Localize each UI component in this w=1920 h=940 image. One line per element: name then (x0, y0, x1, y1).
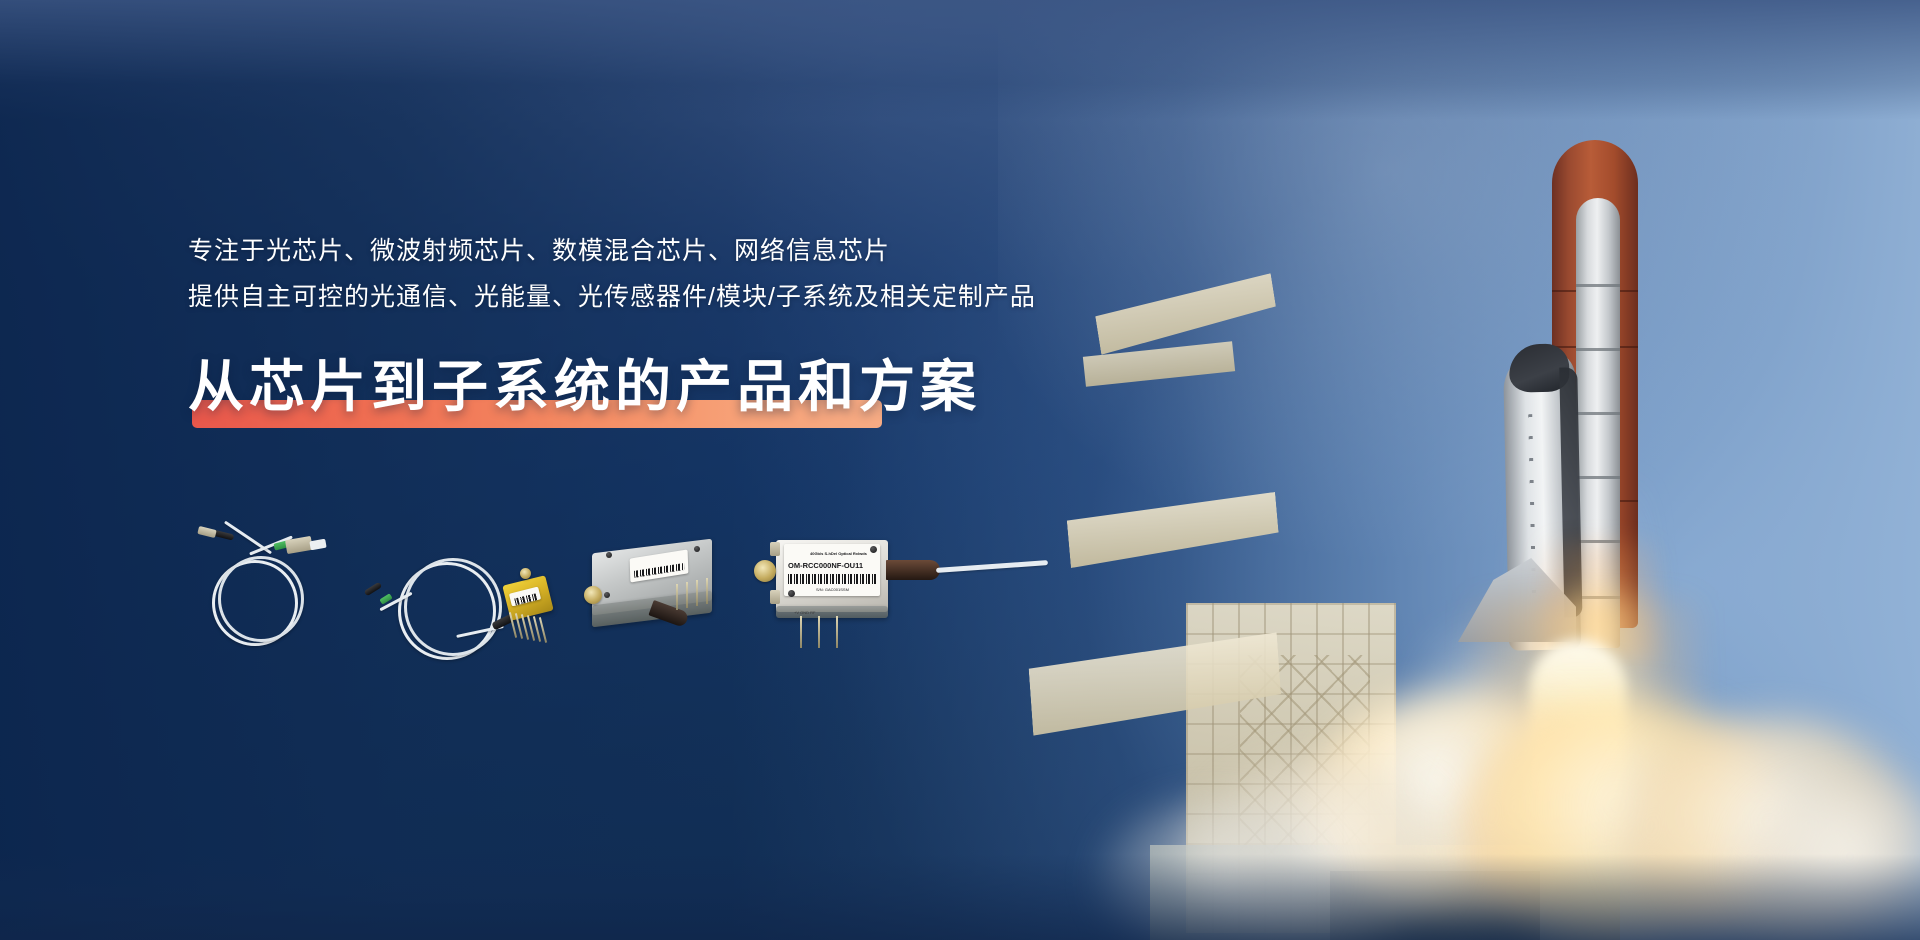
connector-ferrule (197, 526, 216, 538)
product-rf-optical-module-grey (582, 540, 742, 650)
product-showcase-strip: 40Gb/s S-hDel Optical Rxlwds OM-RCC000NF… (190, 528, 1190, 678)
module-label: 40Gb/s S-hDel Optical Rxlwds OM-RCC000NF… (784, 544, 880, 596)
banner-headline-wrap: 从芯片到子系统的产品和方案 (188, 348, 1188, 444)
banner-subtitle-line-2: 提供自主可控的光通信、光能量、光传感器件/模块/子系统及相关定制产品 (188, 274, 1188, 320)
output-fiber (936, 560, 1048, 573)
connector-tip (309, 539, 326, 551)
pin-marking-text: +V GND RF (794, 610, 815, 615)
sky-top-vignette (0, 0, 1920, 120)
label-serial-text: S/N: GAC001SSM (816, 587, 849, 592)
sky-left-vignette (0, 0, 883, 940)
connector-boot (364, 582, 382, 597)
product-butterfly-laser-module-gold (360, 534, 550, 664)
fiber-strain-relief (886, 560, 940, 580)
ground-shadow (0, 854, 1920, 940)
connector-body (285, 536, 313, 554)
module-housing-side (776, 606, 888, 618)
sma-connector-icon (754, 560, 776, 582)
sma-connector-icon (520, 568, 531, 579)
banner-headline: 从芯片到子系统的产品和方案 (188, 348, 981, 426)
label-model-text: OM-RCC000NF-OU11 (788, 561, 863, 570)
sma-connector-icon (584, 586, 602, 604)
product-coaxial-optical-receiver-module: 40Gb/s S-hDel Optical Rxlwds OM-RCC000NF… (750, 532, 1050, 662)
hero-banner: 专注于光芯片、微波射频芯片、数模混合芯片、网络信息芯片 提供自主可控的光通信、光… (0, 0, 1920, 940)
banner-copy: 专注于光芯片、微波射频芯片、数模混合芯片、网络信息芯片 提供自主可控的光通信、光… (188, 228, 1188, 444)
product-fiber-pigtail-coil-lc (190, 528, 350, 648)
label-spec-text: 40Gb/s S-hDel Optical Rxlwds (810, 551, 867, 556)
banner-subtitle-line-1: 专注于光芯片、微波射频芯片、数模混合芯片、网络信息芯片 (188, 228, 1188, 274)
